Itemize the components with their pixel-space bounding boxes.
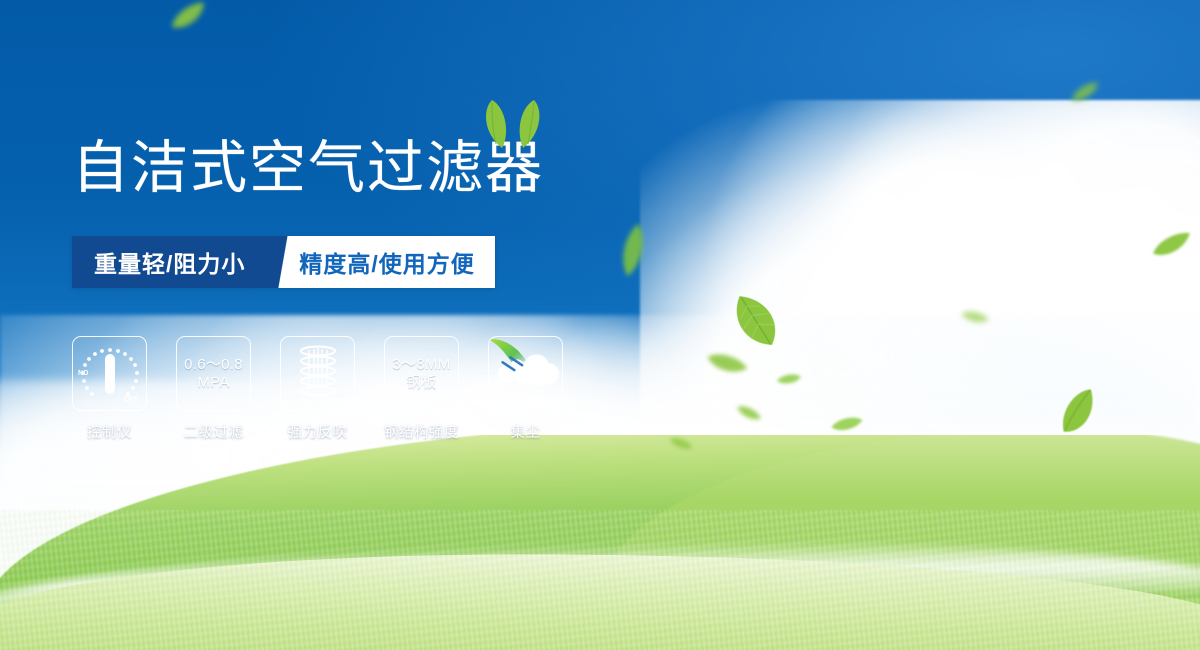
pressure-line-2: MPA: [197, 374, 229, 392]
leaf-icon: [775, 370, 803, 387]
subtitle-divider: [271, 236, 297, 288]
dial-label-off: OFF: [124, 396, 139, 403]
feature-label: 控制仪: [72, 421, 147, 442]
leaf-icon: [165, 0, 214, 37]
subtitle-bar: 重量轻/阻力小 精度高/使用方便: [72, 236, 495, 288]
feature-item-filtration[interactable]: 0.6～0.8 MPA 二级过滤: [176, 336, 251, 442]
air-label: Air: [518, 391, 532, 404]
feature-label: 二级过滤: [176, 421, 251, 442]
dial-gauge-icon: NO OFF: [72, 336, 147, 411]
leaf-icon: [1147, 226, 1197, 264]
feature-label: 集尘: [488, 421, 563, 442]
feature-label: 强力反吹: [280, 421, 355, 442]
steel-line-2: 钢板: [406, 374, 437, 392]
leaf-icon: [702, 346, 751, 382]
leaf-icon: [614, 220, 651, 280]
steel-plate-text-icon: 3～8MM 钢板: [384, 336, 459, 411]
subtitle-segment-right: 精度高/使用方便: [297, 236, 494, 288]
leaf-icon: [958, 305, 991, 330]
feature-item-steel[interactable]: 3～8MM 钢板 钢结构强度: [384, 336, 459, 442]
leaf-icon: [1065, 75, 1104, 109]
feature-item-control[interactable]: NO OFF 控制仪: [72, 336, 147, 442]
grass-texture: [0, 510, 1200, 650]
page-title: 自洁式空气过滤器: [72, 140, 544, 197]
hero-banner: 自洁式空气过滤器 重量轻/阻力小 精度高/使用方便: [0, 0, 1200, 650]
feature-list: NO OFF 控制仪 0.6～0.8 MPA 二级过滤: [72, 336, 563, 442]
leaf-icon: [717, 281, 792, 360]
leaf-icon: [828, 411, 865, 438]
air-cloud-icon: Air: [488, 336, 563, 411]
feature-item-blowback[interactable]: 强力反吹: [280, 336, 355, 442]
leaf-icon: [733, 399, 765, 426]
feature-item-dust[interactable]: Air 集尘: [488, 336, 563, 442]
pressure-line-1: 0.6～0.8: [184, 356, 243, 374]
title-block: 自洁式空气过滤器: [72, 140, 544, 197]
subtitle-segment-left: 重量轻/阻力小: [72, 236, 271, 288]
filter-cartridge-icon: [280, 336, 355, 411]
grass-field: [0, 435, 1200, 650]
sprout-leaves-icon: [476, 98, 548, 150]
feature-label: 钢结构强度: [384, 421, 459, 442]
steel-line-1: 3～8MM: [392, 356, 450, 374]
pressure-text-icon: 0.6～0.8 MPA: [176, 336, 251, 411]
dial-label-no: NO: [78, 370, 89, 377]
